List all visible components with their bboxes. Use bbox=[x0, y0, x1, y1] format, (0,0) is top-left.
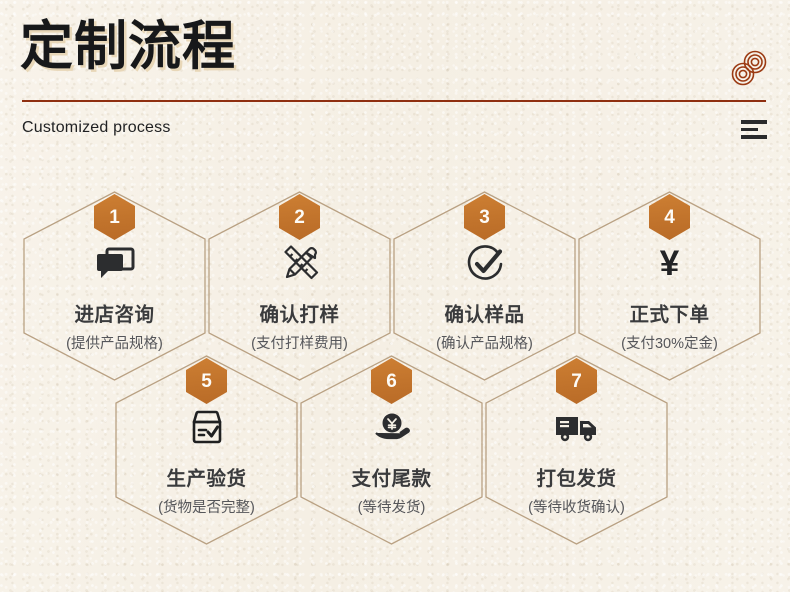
customized-process-page: 定制流程 Customized process bbox=[0, 0, 790, 592]
process-step-6[interactable]: 6 支付尾款 (等待发货) bbox=[299, 354, 484, 546]
step-badge-6: 6 bbox=[371, 358, 412, 404]
step-number: 5 bbox=[186, 358, 227, 404]
process-step-5[interactable]: 5 生产验货 (货物是否完整) bbox=[114, 354, 299, 546]
step-badge-1: 1 bbox=[94, 194, 135, 240]
step-badge-5: 5 bbox=[186, 358, 227, 404]
step-badge-2: 2 bbox=[279, 194, 320, 240]
process-step-7[interactable]: 7 打包发货 (等待收货确 bbox=[484, 354, 669, 546]
step-number: 1 bbox=[94, 194, 135, 240]
process-steps-grid: 1 进店咨询 (提供产品规格) 2 bbox=[0, 0, 790, 592]
step-number: 4 bbox=[649, 194, 690, 240]
step-badge-7: 7 bbox=[556, 358, 597, 404]
step-badge-3: 3 bbox=[464, 194, 505, 240]
step-number: 6 bbox=[371, 358, 412, 404]
step-badge-4: 4 bbox=[649, 194, 690, 240]
step-number: 2 bbox=[279, 194, 320, 240]
step-number: 3 bbox=[464, 194, 505, 240]
step-number: 7 bbox=[556, 358, 597, 404]
